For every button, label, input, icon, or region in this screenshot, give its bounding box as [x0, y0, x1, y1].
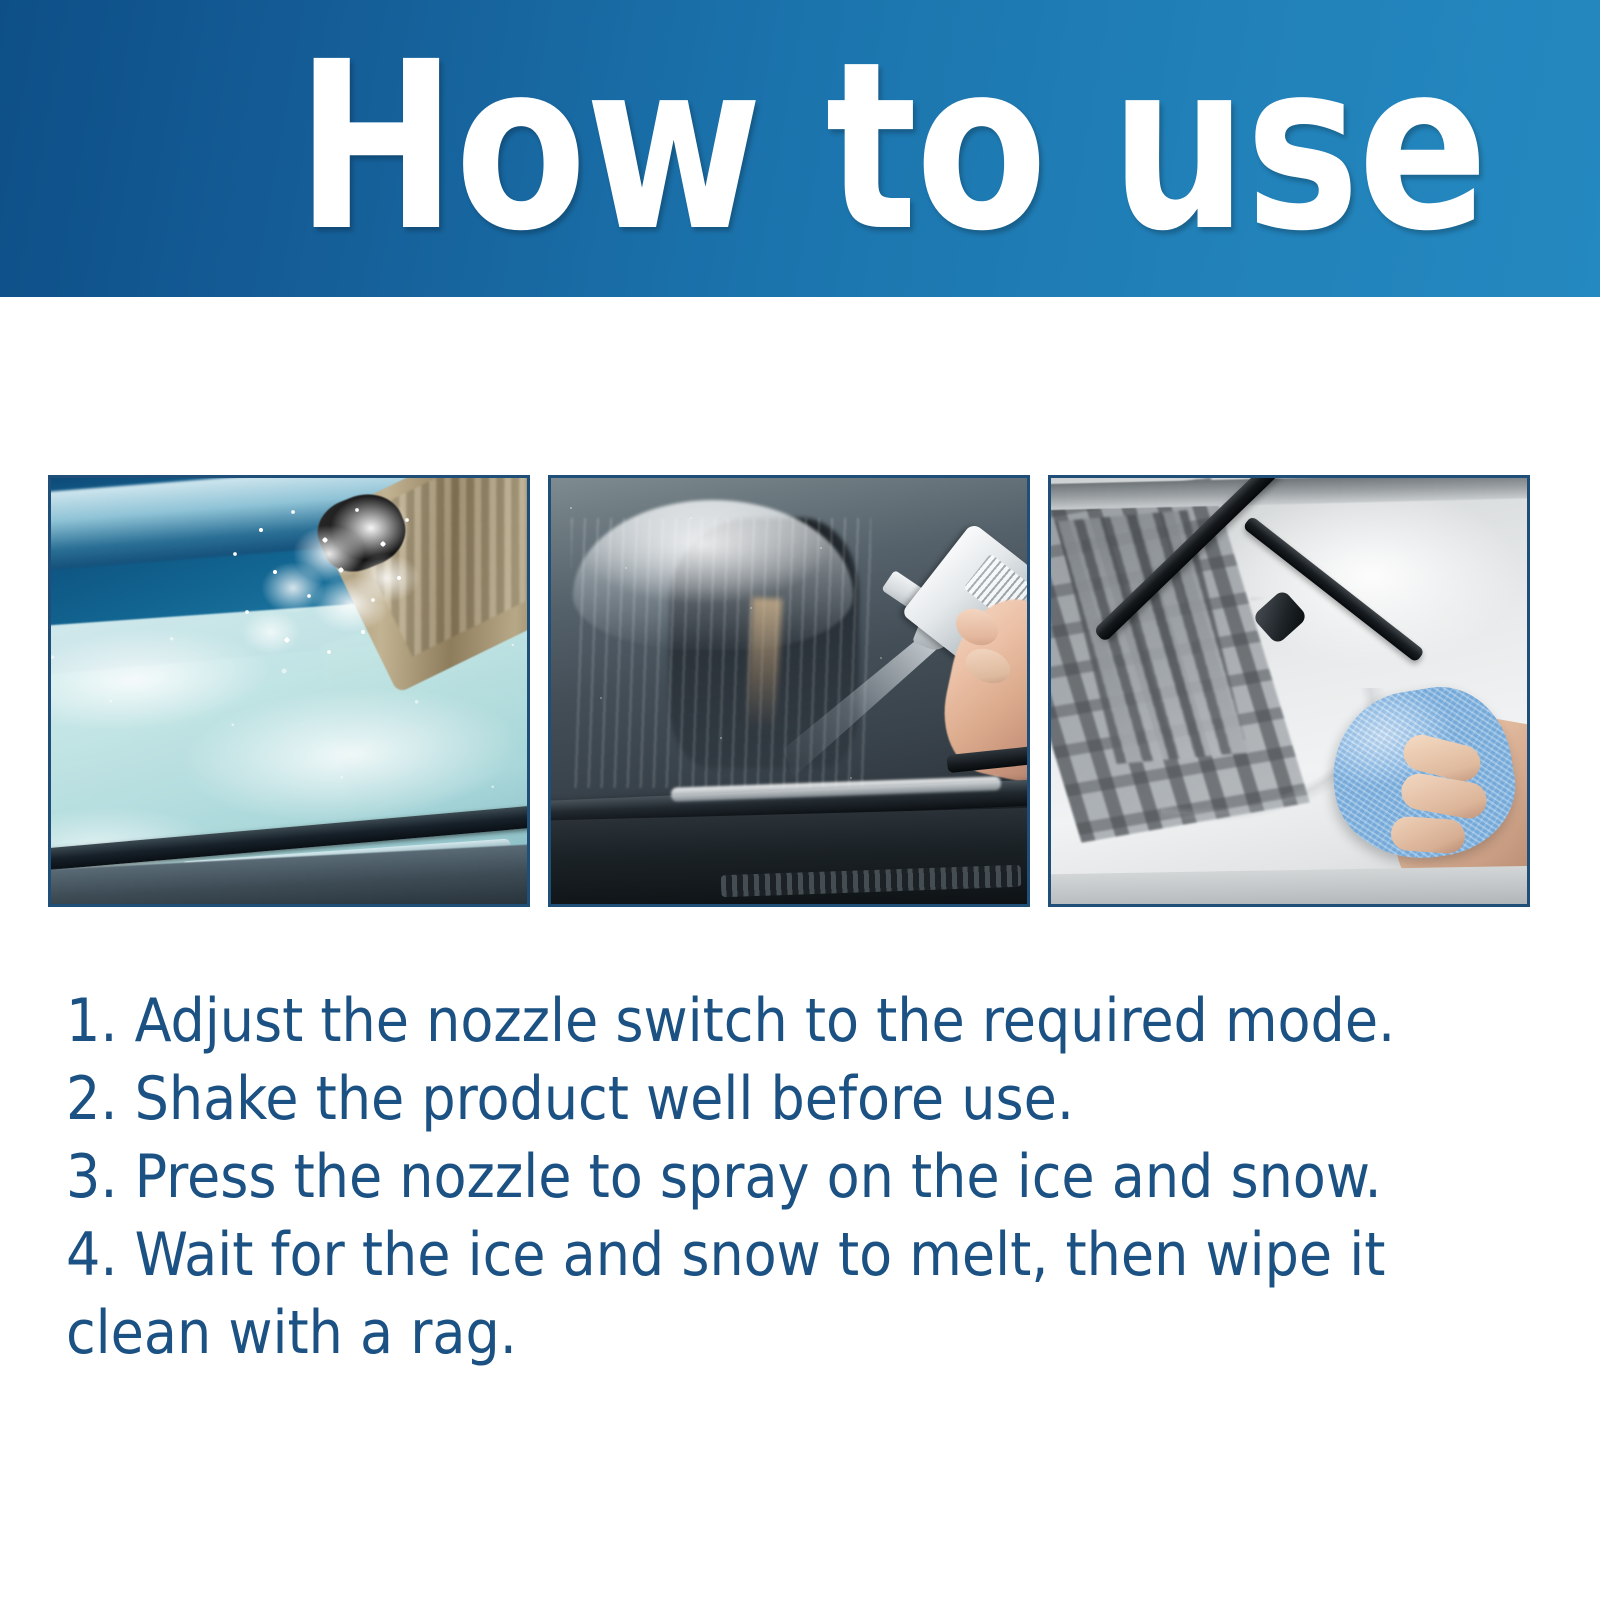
page-title: How to use	[296, 32, 1225, 262]
thumb-shape	[1390, 815, 1466, 854]
how-to-use-infographic: How to use	[0, 0, 1600, 1600]
instruction-step-2: 2. Shake the product well before use.	[66, 1060, 1526, 1138]
instruction-step-3: 3. Press the nozzle to spray on the ice …	[66, 1138, 1526, 1216]
step-image-row	[48, 475, 1552, 907]
header-banner: How to use	[0, 0, 1600, 297]
instruction-step-4: 4. Wait for the ice and snow to melt, th…	[66, 1216, 1526, 1372]
step-2-image-spray-bottle-on-frosted-glass	[548, 475, 1030, 907]
instruction-step-1: 1. Adjust the nozzle switch to the requi…	[66, 982, 1526, 1060]
step-1-image-snow-scraped-from-windshield	[48, 475, 530, 907]
step-3-image-wiping-windshield-with-cloth	[1048, 475, 1530, 907]
snow-grain-texture	[201, 492, 441, 722]
car-hood-shape	[1048, 866, 1530, 907]
instruction-list: 1. Adjust the nozzle switch to the requi…	[66, 982, 1526, 1372]
